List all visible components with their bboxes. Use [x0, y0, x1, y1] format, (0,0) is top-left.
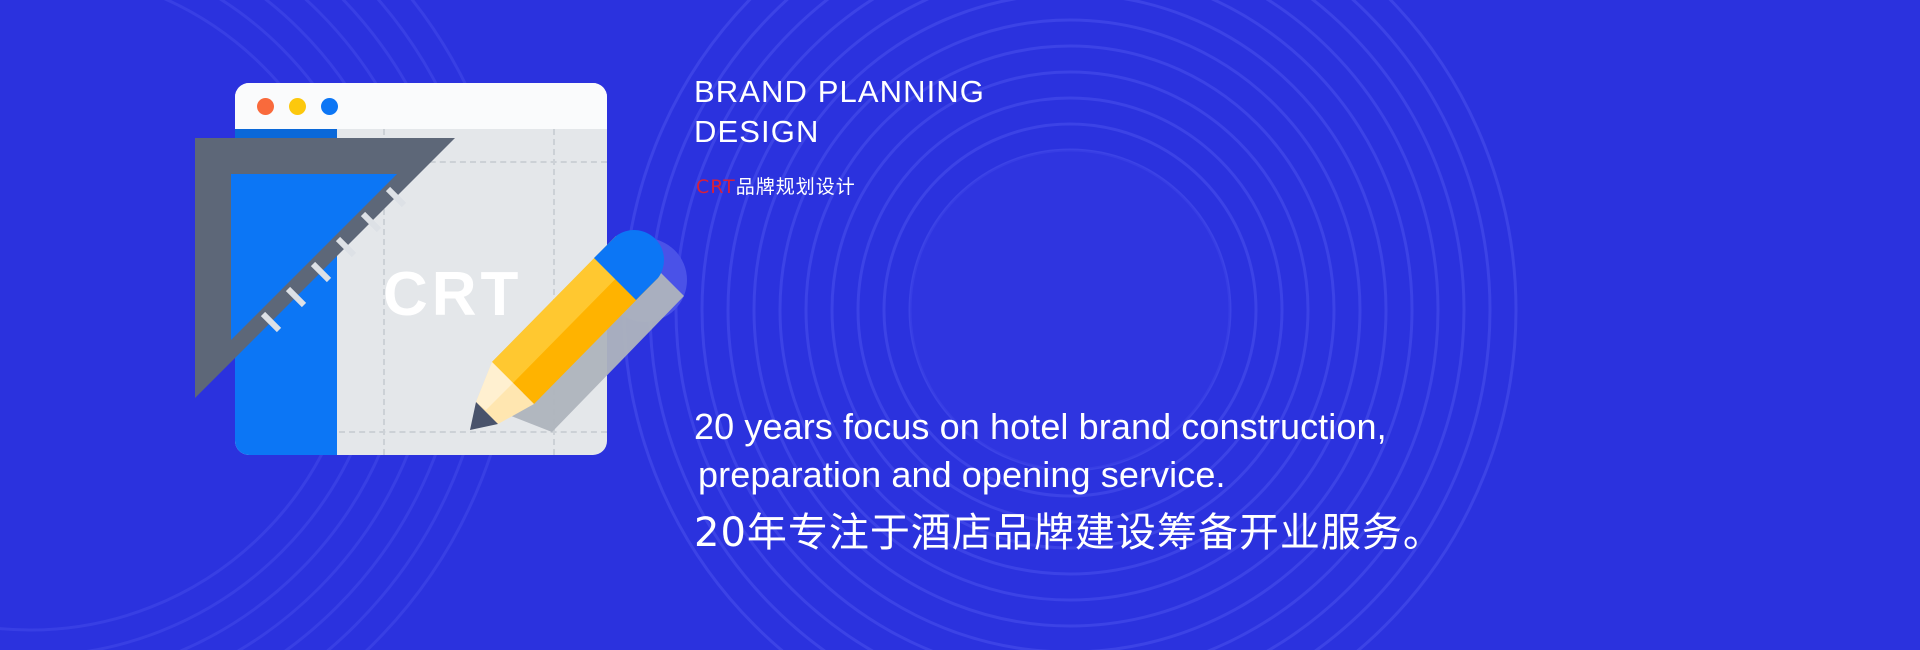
- close-dot: [257, 98, 274, 115]
- brand-illustration: CRT: [230, 78, 730, 568]
- headline-line-2: DESIGN: [694, 116, 985, 147]
- browser-titlebar: [235, 83, 607, 129]
- banner-headline: BRAND PLANNING DESIGN: [694, 76, 985, 147]
- tagline-chinese: 20年专注于酒店品牌建设筹备开业服务。: [694, 505, 1444, 561]
- pencil-icon: [470, 218, 730, 518]
- hero-banner: CRT: [0, 0, 1920, 650]
- subheading-text: 品牌规划设计: [736, 176, 856, 198]
- tagline-en-line-1: 20 years focus on hotel brand constructi…: [694, 406, 1387, 447]
- tagline-en-line-2: preparation and opening service.: [694, 451, 1414, 499]
- banner-text-column: BRAND PLANNING DESIGN CRT品牌规划设计 20 years…: [694, 0, 1894, 650]
- subheading-brand: CRT: [696, 176, 736, 198]
- headline-line-1: BRAND PLANNING: [694, 74, 985, 109]
- maximize-dot: [321, 98, 338, 115]
- triangle-ruler-icon: [185, 128, 485, 428]
- tagline-english: 20 years focus on hotel brand constructi…: [694, 403, 1414, 499]
- minimize-dot: [289, 98, 306, 115]
- banner-subheading: CRT品牌规划设计: [696, 172, 856, 199]
